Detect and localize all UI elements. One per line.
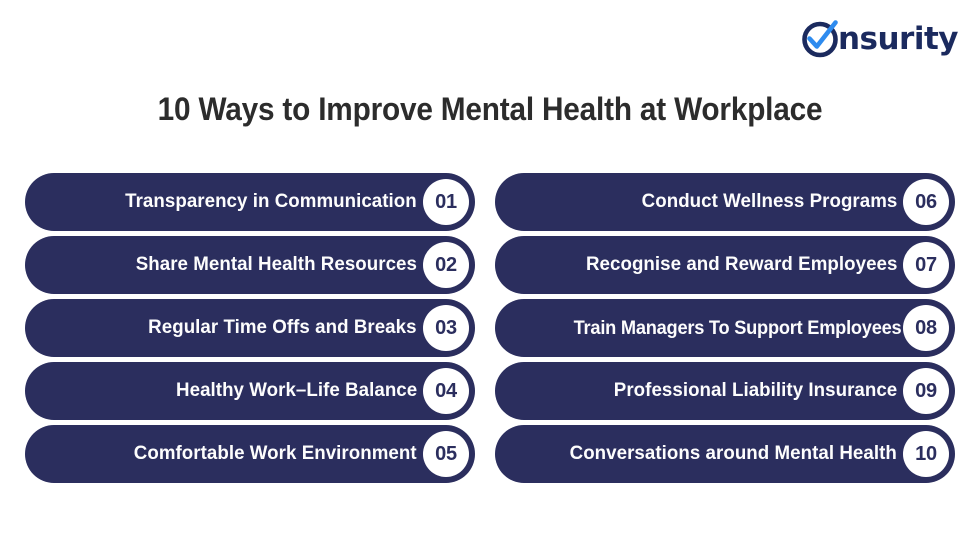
list-item-number: 09 bbox=[903, 368, 949, 414]
list-item[interactable]: Regular Time Offs and Breaks 03 bbox=[25, 299, 475, 357]
list-item-number: 06 bbox=[903, 179, 949, 225]
brand-logo[interactable]: nsurity bbox=[799, 16, 958, 60]
list-item-number: 08 bbox=[903, 305, 949, 351]
list-item-number: 04 bbox=[423, 368, 469, 414]
tips-list: Transparency in Communication 01 Share M… bbox=[0, 173, 980, 483]
list-item-number: 10 bbox=[903, 431, 949, 477]
list-item-number: 01 bbox=[423, 179, 469, 225]
tips-column-left: Transparency in Communication 01 Share M… bbox=[25, 173, 475, 483]
brand-wordmark: nsurity bbox=[838, 24, 958, 55]
list-item[interactable]: Conduct Wellness Programs 06 bbox=[495, 173, 955, 231]
list-item-label: Regular Time Offs and Breaks bbox=[149, 318, 417, 338]
list-item[interactable]: Train Managers To Support Employees 08 bbox=[495, 299, 955, 357]
infographic-canvas: nsurity 10 Ways to Improve Mental Health… bbox=[0, 0, 980, 551]
list-item-number: 05 bbox=[423, 431, 469, 477]
list-item-label: Train Managers To Support Employees bbox=[573, 319, 901, 338]
page-title: 10 Ways to Improve Mental Health at Work… bbox=[34, 91, 945, 128]
list-item-label: Conduct Wellness Programs bbox=[641, 192, 897, 212]
onsurity-check-circle-logo-icon bbox=[799, 17, 841, 59]
list-item-label: Comfortable Work Environment bbox=[134, 444, 417, 464]
list-item-number: 03 bbox=[423, 305, 469, 351]
list-item-label: Recognise and Reward Employees bbox=[586, 255, 897, 275]
list-item-label: Conversations around Mental Health bbox=[570, 444, 897, 464]
list-item-number: 02 bbox=[423, 242, 469, 288]
list-item[interactable]: Share Mental Health Resources 02 bbox=[25, 236, 475, 294]
tips-column-right: Conduct Wellness Programs 06 Recognise a… bbox=[495, 173, 955, 483]
list-item[interactable]: Recognise and Reward Employees 07 bbox=[495, 236, 955, 294]
list-item-label: Healthy Work–Life Balance bbox=[176, 381, 417, 401]
list-item[interactable]: Comfortable Work Environment 05 bbox=[25, 425, 475, 483]
list-item[interactable]: Professional Liability Insurance 09 bbox=[495, 362, 955, 420]
list-item-number: 07 bbox=[903, 242, 949, 288]
list-item[interactable]: Transparency in Communication 01 bbox=[25, 173, 475, 231]
list-item-label: Share Mental Health Resources bbox=[136, 255, 417, 275]
list-item-label: Transparency in Communication bbox=[125, 192, 417, 212]
list-item[interactable]: Conversations around Mental Health 10 bbox=[495, 425, 955, 483]
list-item[interactable]: Healthy Work–Life Balance 04 bbox=[25, 362, 475, 420]
list-item-label: Professional Liability Insurance bbox=[614, 381, 897, 401]
